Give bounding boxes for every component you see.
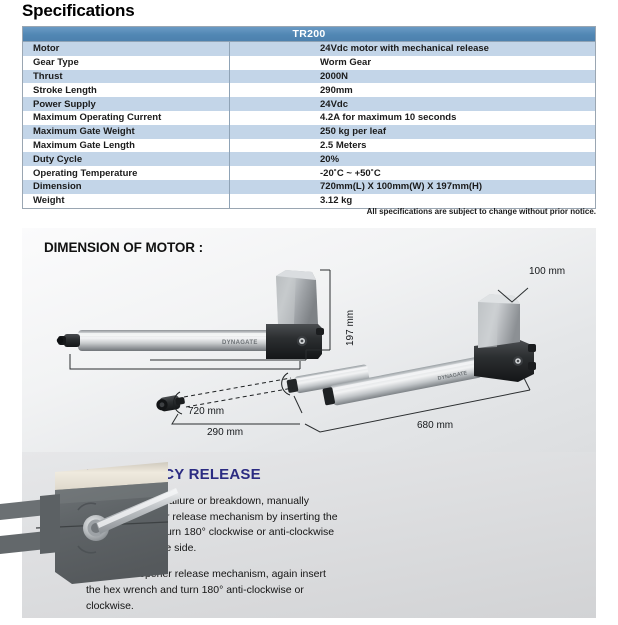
spec-key: Maximum Operating Current	[23, 111, 230, 125]
spec-value: 24Vdc	[230, 97, 596, 111]
spec-value: 720mm(L) X 100mm(W) X 197mm(H)	[230, 180, 596, 194]
spec-value: 3.12 kg	[230, 194, 596, 208]
dimension-label-720: 720 mm	[188, 406, 224, 417]
spec-key: Stroke Length	[23, 83, 230, 97]
table-row: Duty Cycle20%	[23, 152, 595, 166]
spec-key: Maximum Gate Weight	[23, 125, 230, 139]
spec-value: Worm Gear	[230, 56, 596, 70]
table-row: Maximum Operating Current4.2A for maximu…	[23, 111, 595, 125]
dimension-label-197: 197 mm	[345, 310, 356, 346]
spec-value: 20%	[230, 152, 596, 166]
spec-value: -20˚C ~ +50˚C	[230, 166, 596, 180]
table-row: Maximum Gate Weight250 kg per leaf	[23, 125, 595, 139]
dimension-label-100: 100 mm	[529, 266, 565, 277]
table-row: Maximum Gate Length2.5 Meters	[23, 139, 595, 153]
spec-key: Dimension	[23, 180, 230, 194]
motor-side-view: DYNAGATE	[57, 270, 324, 359]
table-header-model: TR200	[23, 27, 595, 42]
table-row: Motor24Vdc motor with mechanical release	[23, 42, 595, 56]
table-row: Dimension720mm(L) X 100mm(W) X 197mm(H)	[23, 180, 595, 194]
spec-value: 290mm	[230, 83, 596, 97]
spec-value: 2.5 Meters	[230, 139, 596, 153]
emergency-release-section: EMERGENCY RELEASE In case of power failu…	[0, 452, 618, 618]
specifications-table: TR200 Motor24Vdc motor with mechanical r…	[22, 26, 596, 209]
motor-dimension-drawing: DYNAGATE	[0, 228, 618, 452]
spec-key: Weight	[23, 194, 230, 208]
spec-key: Maximum Gate Length	[23, 139, 230, 153]
spec-value: 2000N	[230, 70, 596, 84]
spec-key: Power Supply	[23, 97, 230, 111]
dimension-label-680: 680 mm	[417, 420, 453, 431]
dimension-label-290: 290 mm	[207, 427, 243, 438]
spec-value: 24Vdc motor with mechanical release	[230, 42, 596, 56]
spec-rows-table: Motor24Vdc motor with mechanical release…	[23, 42, 595, 208]
table-row: Weight3.12 kg	[23, 194, 595, 208]
spec-value: 4.2A for maximum 10 seconds	[230, 111, 596, 125]
table-row: Operating Temperature-20˚C ~ +50˚C	[23, 166, 595, 180]
spec-disclaimer: All specifications are subject to change…	[367, 207, 596, 216]
emergency-release-photo	[0, 452, 618, 618]
spec-value: 250 kg per leaf	[230, 125, 596, 139]
spec-key: Motor	[23, 42, 230, 56]
dimension-line-720	[70, 354, 300, 369]
spec-key: Duty Cycle	[23, 152, 230, 166]
table-row: Stroke Length290mm	[23, 83, 595, 97]
table-row: Power Supply24Vdc	[23, 97, 595, 111]
dimension-of-motor-section: DIMENSION OF MOTOR :	[0, 228, 618, 452]
spec-key: Gear Type	[23, 56, 230, 70]
spec-key: Thrust	[23, 70, 230, 84]
brand-mark-dynagate: DYNAGATE	[222, 340, 258, 346]
spec-key: Operating Temperature	[23, 166, 230, 180]
table-row: Thrust2000N	[23, 70, 595, 84]
table-row: Gear TypeWorm Gear	[23, 56, 595, 70]
page-title: Specifications	[22, 1, 134, 21]
